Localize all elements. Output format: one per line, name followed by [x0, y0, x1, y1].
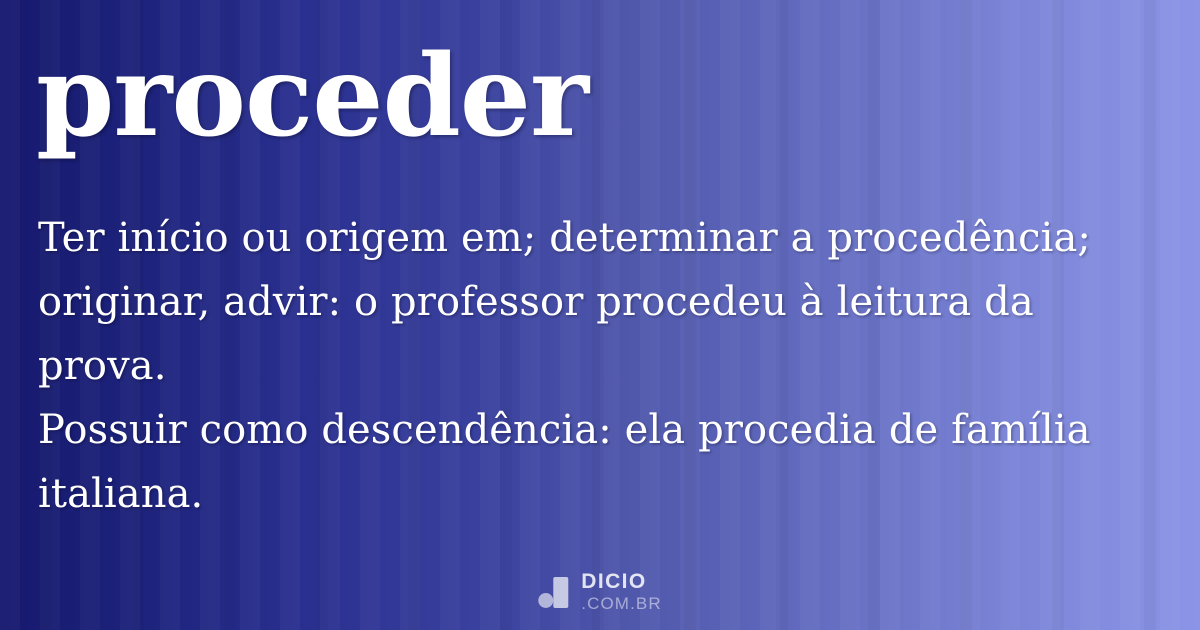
card-content: proceder Ter início ou origem em; determ…: [0, 0, 1200, 630]
dicio-logo[interactable]: DICIO .COM.BR: [538, 571, 661, 612]
definition-item: Possuir como descendência: ela procedia …: [38, 398, 1098, 526]
logo-tld: .COM.BR: [581, 595, 661, 612]
definition-card: proceder Ter início ou origem em; determ…: [0, 0, 1200, 630]
page-title: proceder: [36, 38, 588, 157]
definition-list: Ter início ou origem em; determinar a pr…: [38, 206, 1098, 526]
logo-bar-icon: [553, 577, 568, 608]
logo-name: DICIO: [581, 571, 661, 592]
definition-item: Ter início ou origem em; determinar a pr…: [38, 206, 1098, 398]
logo-circle-icon: [538, 593, 553, 608]
logo-mark-icon: [538, 575, 570, 609]
logo-wordmark: DICIO .COM.BR: [581, 571, 661, 612]
